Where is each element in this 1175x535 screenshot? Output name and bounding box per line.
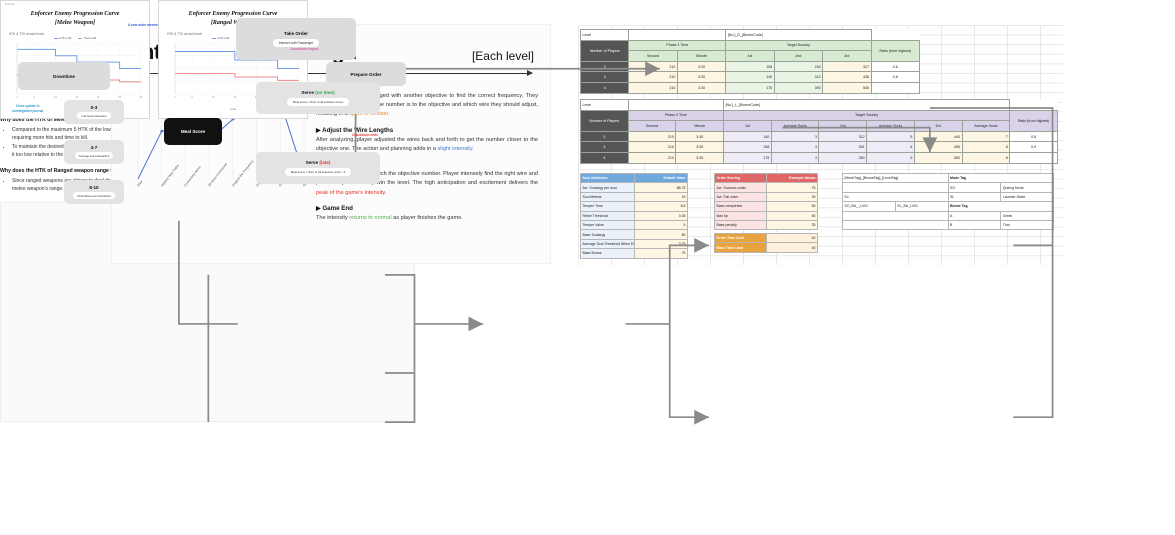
- edge-clues-line2: investigation journal: [12, 109, 43, 114]
- node-level-0-3[interactable]: 0-3 Low level interaction: [64, 100, 124, 124]
- edge-new-order: A new order arrives: [128, 23, 158, 27]
- node-serve-on-time-title: Serve (on time): [301, 90, 334, 95]
- node-take-order-title: Take Order: [284, 31, 308, 36]
- node-take-order-sub: Interact with Passenger: [273, 39, 319, 47]
- node-level-8-10[interactable]: 8-10 Informative level interaction: [64, 180, 124, 204]
- node-level-8-10-sub: Informative level interaction: [73, 192, 115, 199]
- serve-late-state: (late): [319, 160, 330, 165]
- node-meal-score-title: Meal Score: [181, 129, 205, 134]
- node-serve-late-title: Serve (late): [306, 160, 331, 165]
- node-level-4-7[interactable]: 4-7 Average level interaction: [64, 140, 124, 164]
- node-level-4-7-sub: Average level interaction: [75, 152, 114, 159]
- serve-on-time-state: (on time): [315, 90, 334, 95]
- node-take-order[interactable]: Take Order Interact with Passenger: [236, 18, 356, 60]
- node-level-4-7-title: 4-7: [91, 145, 98, 150]
- flowchart-connectors: [0, 0, 1175, 535]
- node-serve-on-time-sub: Meal score = Sum of all selection score: [287, 98, 349, 106]
- flowchart-panel: Process Downtime Take Order Interact wit…: [0, 202, 415, 422]
- node-serve-on-time[interactable]: Serve (on time) Meal score = Sum of all …: [256, 82, 380, 114]
- edge-countdown-ends: Countdown ends: [352, 133, 378, 137]
- edge-countdown-begins: Countdown begins: [290, 47, 319, 51]
- node-serve-late-sub: Meal score = Sum of all selection score …: [285, 168, 352, 176]
- node-level-0-3-title: 0-3: [91, 105, 98, 110]
- node-meal-score[interactable]: Meal Score: [164, 118, 222, 145]
- node-level-8-10-title: 8-10: [89, 185, 98, 190]
- node-level-0-3-sub: Low level interaction: [77, 112, 110, 119]
- edge-clues-update: Clues update in investigation journal: [12, 104, 43, 114]
- node-serve-late[interactable]: Serve (late) Meal score = Sum of all sel…: [256, 152, 380, 184]
- node-downtime-title: Downtime: [53, 74, 75, 79]
- node-downtime[interactable]: Downtime: [18, 62, 110, 90]
- node-prepare-order-title: Prepare Order: [351, 72, 382, 77]
